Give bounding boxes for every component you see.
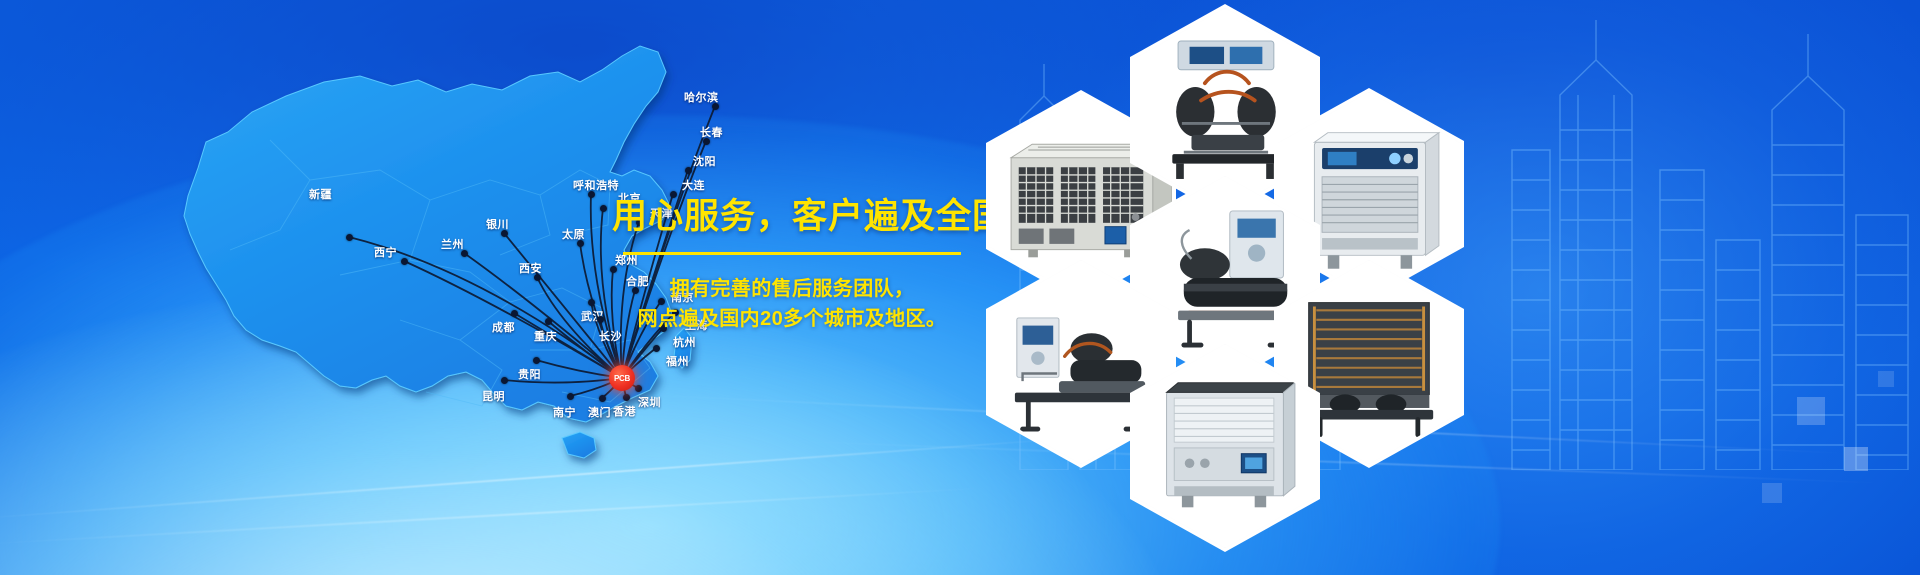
city-dot[interactable]: [501, 377, 508, 384]
city-dot[interactable]: [567, 393, 574, 400]
city-dot[interactable]: [712, 103, 719, 110]
city-dot[interactable]: [533, 357, 540, 364]
city-dot[interactable]: [346, 234, 353, 241]
city-dot[interactable]: [635, 385, 642, 392]
headline-underline: [623, 252, 961, 255]
city-dot[interactable]: [461, 250, 468, 257]
city-dot[interactable]: [545, 318, 552, 325]
hub-marker[interactable]: PCB: [609, 365, 635, 391]
city-dot[interactable]: [703, 138, 710, 145]
city-dot[interactable]: [653, 345, 660, 352]
hub-label: PCB: [614, 374, 630, 383]
promo-banner: 哈尔滨长春沈阳大连呼和浩特北京天津新疆银川太原兰州西宁郑州西安合肥南京武汉长沙上…: [0, 0, 1920, 575]
banner-subtext-line-2: 网点遍及国内20多个城市及地区。: [612, 304, 972, 334]
city-dot[interactable]: [685, 167, 692, 174]
banner-headline: 用心服务，客户遍及全国: [612, 196, 972, 238]
city-dot[interactable]: [401, 258, 408, 265]
banner-subtext-line-1: 拥有完善的售后服务团队，: [612, 274, 972, 304]
city-dot[interactable]: [501, 230, 508, 237]
city-dot[interactable]: [597, 316, 604, 323]
banner-subtext: 拥有完善的售后服务团队， 网点遍及国内20多个城市及地区。: [612, 274, 972, 335]
city-dot[interactable]: [577, 240, 584, 247]
city-dot[interactable]: [623, 394, 630, 401]
city-dot[interactable]: [600, 205, 607, 212]
city-dot[interactable]: [599, 395, 606, 402]
city-dot[interactable]: [534, 274, 541, 281]
product-hex-gallery: [980, 0, 1920, 575]
city-dot[interactable]: [588, 299, 595, 306]
banner-copy: 用心服务，客户遍及全国 拥有完善的售后服务团队， 网点遍及国内20多个城市及地区…: [612, 196, 972, 335]
city-dot[interactable]: [511, 310, 518, 317]
city-dot[interactable]: [588, 191, 595, 198]
